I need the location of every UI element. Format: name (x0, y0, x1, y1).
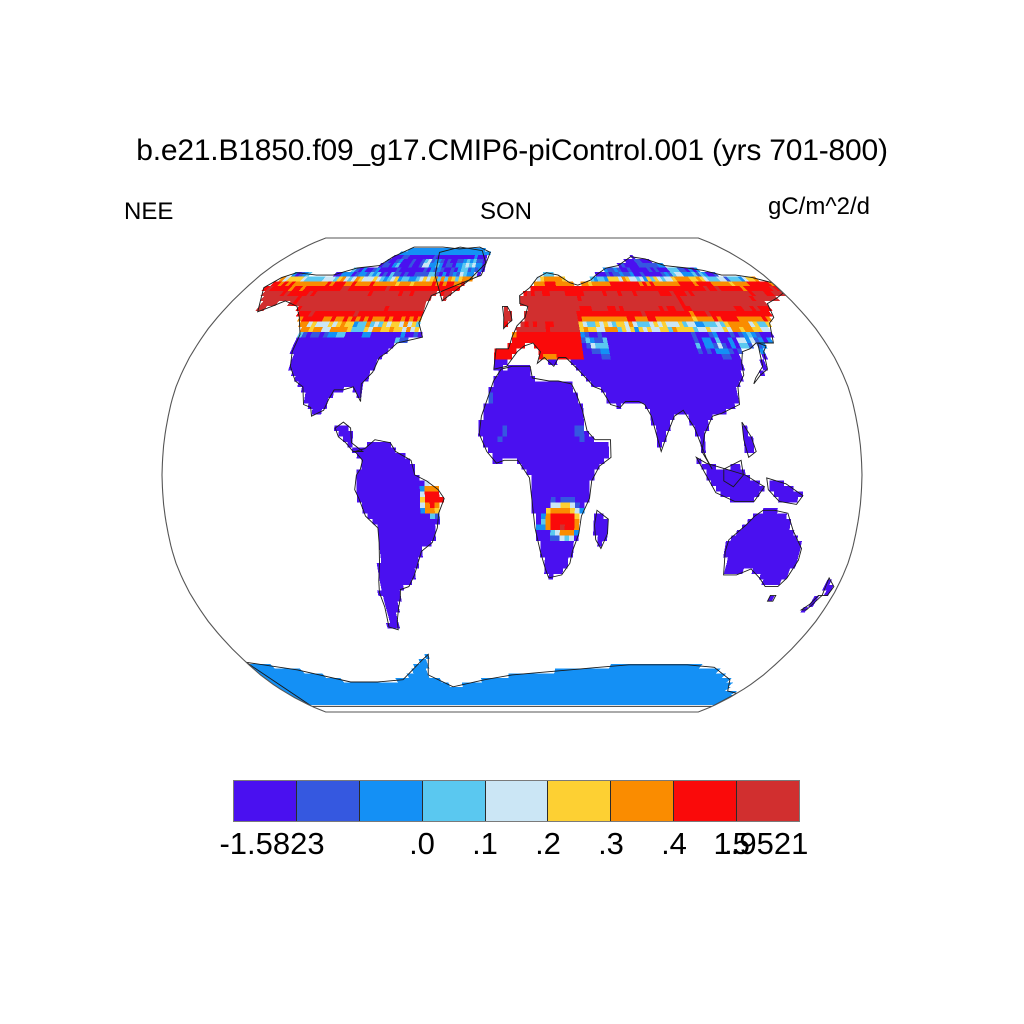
colorbar-bin-1 (297, 781, 360, 821)
data-gridcells (248, 248, 834, 705)
world-map (0, 228, 1024, 738)
colorbar-bin-7 (674, 781, 737, 821)
colorbar-bin-2 (360, 781, 423, 821)
variable-label: NEE (124, 198, 173, 226)
colorbar-labels: -1.5823.0.1.2.3.4.51.9521 (0, 826, 1024, 866)
colorbar-tick-0: .0 (409, 826, 435, 862)
colorbar-tick-2: .2 (535, 826, 561, 862)
units-label: gC/m^2/d (768, 193, 870, 221)
colorbar-tick-1: .1 (472, 826, 498, 862)
figure-root: b.e21.B1850.f09_g17.CMIP6-piControl.001 … (0, 0, 1024, 1024)
colorbar-tick-4: .4 (661, 826, 687, 862)
map-panel (0, 228, 1024, 738)
colorbar-tick-3: .3 (598, 826, 624, 862)
colorbar (233, 780, 800, 822)
colorbar-bin-5 (548, 781, 611, 821)
colorbar-bin-6 (611, 781, 674, 821)
colorbar-bin-4 (486, 781, 549, 821)
colorbar-max-label: 1.9521 (714, 826, 809, 862)
season-label: SON (480, 198, 532, 226)
colorbar-bin-8 (737, 781, 799, 821)
colorbar-bin-3 (423, 781, 486, 821)
colorbar-min-label: -1.5823 (219, 826, 324, 862)
figure-title: b.e21.B1850.f09_g17.CMIP6-piControl.001 … (0, 134, 1024, 168)
colorbar-bin-0 (234, 781, 297, 821)
